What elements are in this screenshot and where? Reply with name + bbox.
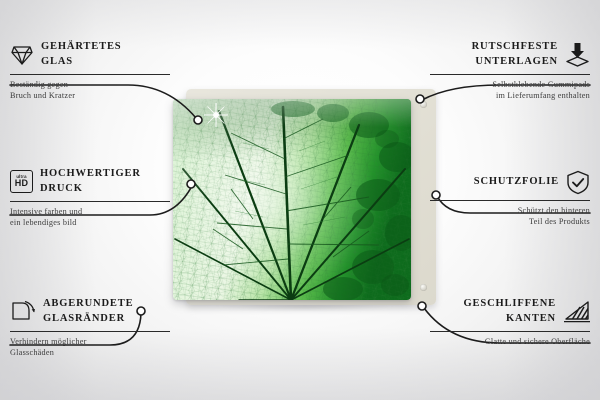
- rounded-corner-icon: [10, 300, 36, 323]
- feature-divider: [10, 201, 170, 202]
- feature-header: GEHÄRTETES GLAS: [10, 40, 170, 69]
- feature-description: Glatte und sichere Oberfläche: [430, 336, 590, 347]
- feature-desc-line2: ein lebendiges bild: [10, 217, 170, 228]
- feature-description: Selbstklebende Gummipads im Lieferumfang…: [430, 79, 590, 101]
- feature-title: SCHUTZFOLIE: [474, 175, 559, 190]
- feature-desc-line2: Bruch und Kratzer: [10, 90, 170, 101]
- feature-desc-line1: Intensive farben und: [10, 206, 170, 217]
- feature-desc-line1: Selbstklebende Gummipads: [430, 79, 590, 90]
- feature-divider: [430, 74, 590, 75]
- feature-header: ultra HD HOCHWERTIGER DRUCK: [10, 167, 170, 196]
- feature-title-line2: GLASRÄNDER: [43, 312, 133, 327]
- feature-title: ABGERUNDETE GLASRÄNDER: [43, 297, 133, 326]
- feature-desc-line1: Schützt den hinteren: [430, 205, 590, 216]
- ultra-hd-icon-main-text: HD: [15, 179, 29, 188]
- feature-abgerundete-glasraender: ABGERUNDETE GLASRÄNDER Verhindern möglic…: [10, 297, 170, 358]
- feature-title: HOCHWERTIGER DRUCK: [40, 167, 141, 196]
- feature-divider: [430, 331, 590, 332]
- feature-title-line1: ABGERUNDETE: [43, 297, 133, 312]
- feature-description: Intensive farben und ein lebendiges bild: [10, 206, 170, 228]
- feature-divider: [10, 74, 170, 75]
- feature-divider: [10, 331, 170, 332]
- feature-rutschfeste-unterlagen: RUTSCHFESTE UNTERLAGEN Selbstklebende Gu…: [430, 40, 590, 101]
- feature-title-line2: KANTEN: [464, 312, 556, 327]
- feature-title-line1: HOCHWERTIGER: [40, 167, 141, 182]
- feature-hochwertiger-druck: ultra HD HOCHWERTIGER DRUCK Intensive fa…: [10, 167, 170, 228]
- ultra-hd-icon: ultra HD: [10, 170, 33, 193]
- feature-title: GESCHLIFFENE KANTEN: [464, 297, 556, 326]
- feature-desc-line1: Glatte und sichere Oberfläche: [430, 336, 590, 347]
- feature-title-line1: GEHÄRTETES: [41, 40, 122, 55]
- feature-description: Beständig gegen Bruch und Kratzer: [10, 79, 170, 101]
- feature-desc-line2: Glasschäden: [10, 347, 170, 358]
- shield-check-icon: [566, 170, 590, 195]
- feature-header: RUTSCHFESTE UNTERLAGEN: [430, 40, 590, 69]
- hatched-triangle-icon: [563, 301, 590, 323]
- feature-title: GEHÄRTETES GLAS: [41, 40, 122, 69]
- press-pad-icon: [565, 42, 590, 67]
- feature-title-line1: RUTSCHFESTE: [472, 40, 558, 55]
- feature-title-line1: SCHUTZFOLIE: [474, 175, 559, 190]
- feature-title: RUTSCHFESTE UNTERLAGEN: [472, 40, 558, 69]
- feature-title-line2: DRUCK: [40, 182, 141, 197]
- feature-divider: [430, 200, 590, 201]
- infographic-stage: GEHÄRTETES GLAS Beständig gegen Bruch un…: [0, 0, 600, 400]
- feature-title-line2: UNTERLAGEN: [472, 55, 558, 70]
- feature-title-line1: GESCHLIFFENE: [464, 297, 556, 312]
- feature-header: SCHUTZFOLIE: [430, 170, 590, 195]
- feature-description: Verhindern möglicher Glasschäden: [10, 336, 170, 358]
- feature-description: Schützt den hinteren Teil des Produkts: [430, 205, 590, 227]
- feature-header: ABGERUNDETE GLASRÄNDER: [10, 297, 170, 326]
- feature-geschliffene-kanten: GESCHLIFFENE KANTEN Glatte und sichere O…: [430, 297, 590, 347]
- feature-desc-line2: im Lieferumfang enthalten: [430, 90, 590, 101]
- diamond-icon: [10, 44, 34, 66]
- feature-schutzfolie: SCHUTZFOLIE Schützt den hinteren Teil de…: [430, 170, 590, 227]
- feature-desc-line1: Verhindern möglicher: [10, 336, 170, 347]
- feature-desc-line2: Teil des Produkts: [430, 216, 590, 227]
- feature-title-line2: GLAS: [41, 55, 122, 70]
- feature-desc-line1: Beständig gegen: [10, 79, 170, 90]
- feature-gehaertetes-glas: GEHÄRTETES GLAS Beständig gegen Bruch un…: [10, 40, 170, 101]
- feature-header: GESCHLIFFENE KANTEN: [430, 297, 590, 326]
